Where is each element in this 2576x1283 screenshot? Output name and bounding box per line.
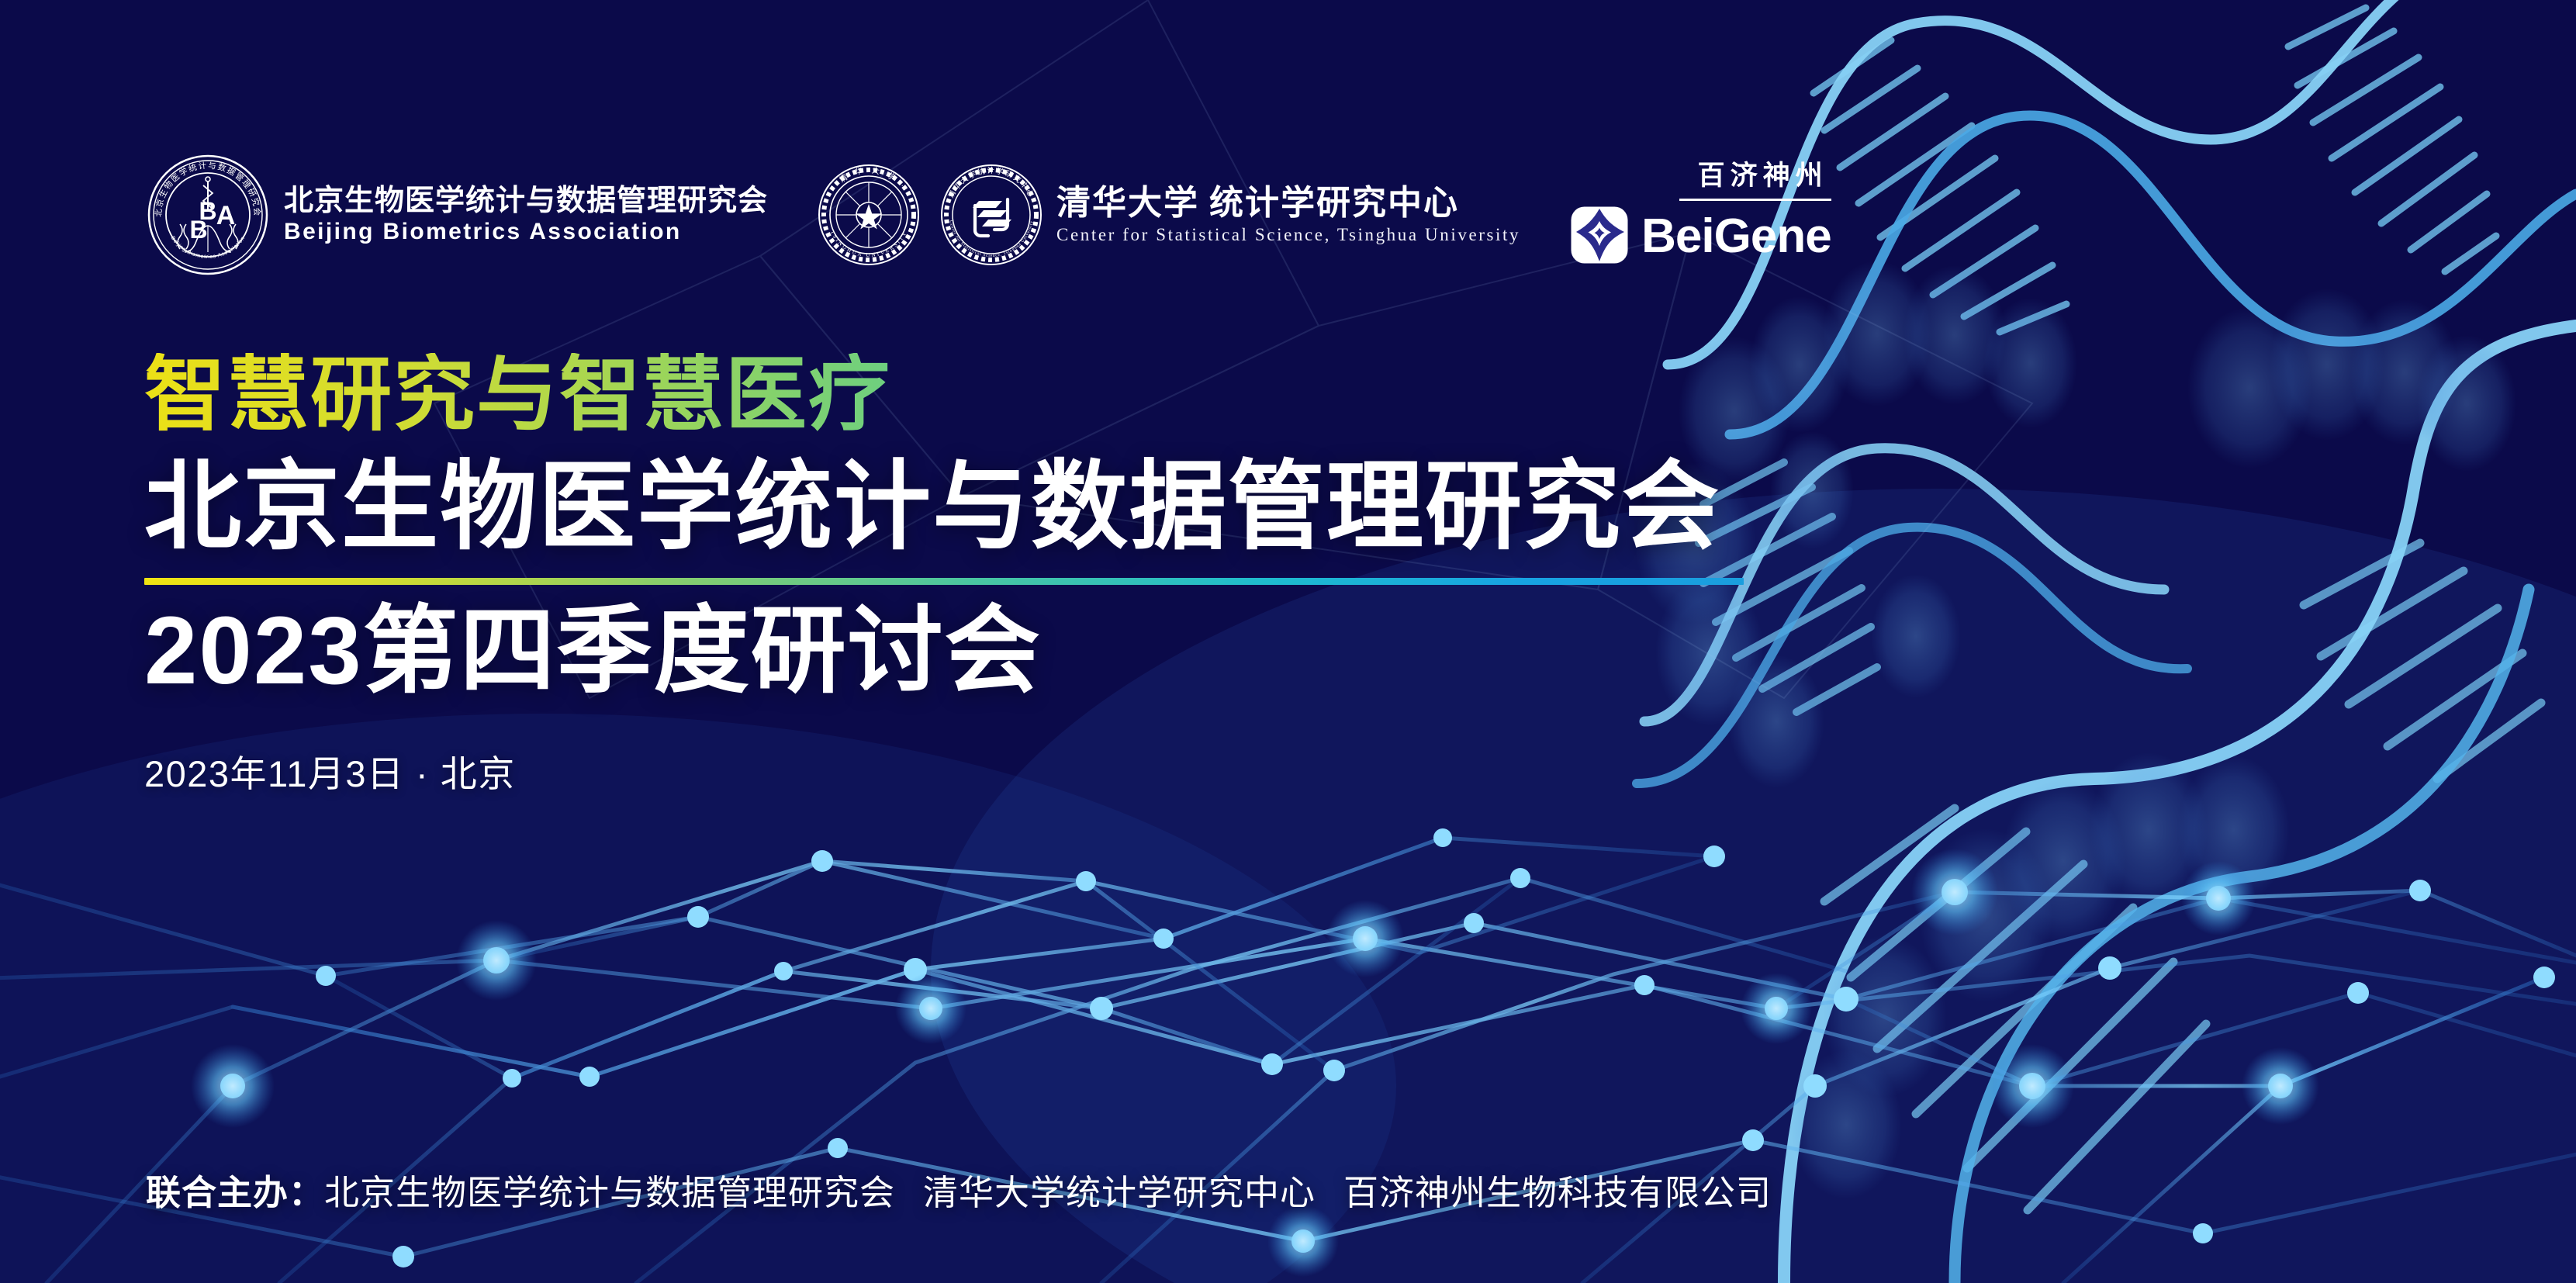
organizer-1: 北京生物医学统计与数据管理研究会	[324, 1173, 895, 1212]
logo-beigene: 百济神州 BeiGene	[1570, 161, 1831, 268]
logo-tsinghua-university: · 清 华 大 学 · TSINGHUA UNIVERSITY	[816, 162, 921, 268]
beigene-name-en: BeiGene	[1641, 213, 1831, 261]
beigene-logo-icon	[1570, 206, 1629, 268]
beigene-underline	[1679, 199, 1831, 201]
tsinghua-wordmark: 清华大学 统计学研究中心 Center for Statistical Scie…	[1056, 183, 1520, 247]
bba-name-cn: 北京生物医学统计与数据管理研究会	[284, 184, 768, 219]
beigene-name-cn: 百济神州	[1698, 161, 1831, 192]
page-subtitle: 2023第四季度研讨会	[144, 600, 1851, 704]
tsinghua-university-seal-icon: · 清 华 大 学 · TSINGHUA UNIVERSITY	[816, 162, 921, 268]
sponsor-logo-bar: 北京生物医学统计与数据管理研究会 Beijing Biometrics Asso…	[146, 144, 1831, 285]
gradient-divider	[144, 578, 1744, 585]
bba-seal-icon: 北京生物医学统计与数据管理研究会 Beijing Biometrics Asso…	[146, 153, 270, 277]
headline-block: 智慧研究与智慧医疗 北京生物医学统计与数据管理研究会 2023第四季度研讨会 2…	[144, 353, 1851, 797]
dna-helix-lower	[1784, 326, 2576, 1283]
conference-banner: 北京生物医学统计与数据管理研究会 Beijing Biometrics Asso…	[0, 0, 2576, 1283]
network-mesh	[0, 828, 2576, 1283]
tsinghua-name-en: Center for Statistical Science, Tsinghua…	[1056, 224, 1520, 247]
organizer-3: 百济神州生物科技有限公司	[1343, 1173, 1772, 1212]
svg-text:B: B	[189, 216, 207, 244]
bba-name-en: Beijing Biometrics Association	[284, 218, 768, 246]
tsinghua-name-cn: 清华大学 统计学研究中心	[1056, 183, 1520, 224]
page-title: 北京生物医学统计与数据管理研究会	[144, 456, 1851, 559]
svg-text:A: A	[216, 201, 236, 230]
tagline: 智慧研究与智慧医疗	[144, 353, 1851, 437]
organizers-label: 联合主办：	[146, 1173, 324, 1212]
organizer-2: 清华大学统计学研究中心	[923, 1173, 1316, 1212]
svg-text:清华大学统计学研究中心: 清华大学统计学研究中心	[946, 166, 1036, 200]
event-datetime-location: 2023年11月3日 · 北京	[144, 744, 1851, 797]
logo-css-tsinghua: 清华大学统计学研究中心 Center for Statistical Scien…	[939, 162, 1520, 268]
organizers-footer: 联合主办：北京生物医学统计与数据管理研究会清华大学统计学研究中心百济神州生物科技…	[146, 1164, 1772, 1215]
bba-wordmark: 北京生物医学统计与数据管理研究会 Beijing Biometrics Asso…	[284, 184, 768, 247]
css-tsinghua-seal-icon: 清华大学统计学研究中心 Center for Statistical Scien…	[939, 162, 1044, 268]
logo-bba: 北京生物医学统计与数据管理研究会 Beijing Biometrics Asso…	[146, 153, 768, 277]
